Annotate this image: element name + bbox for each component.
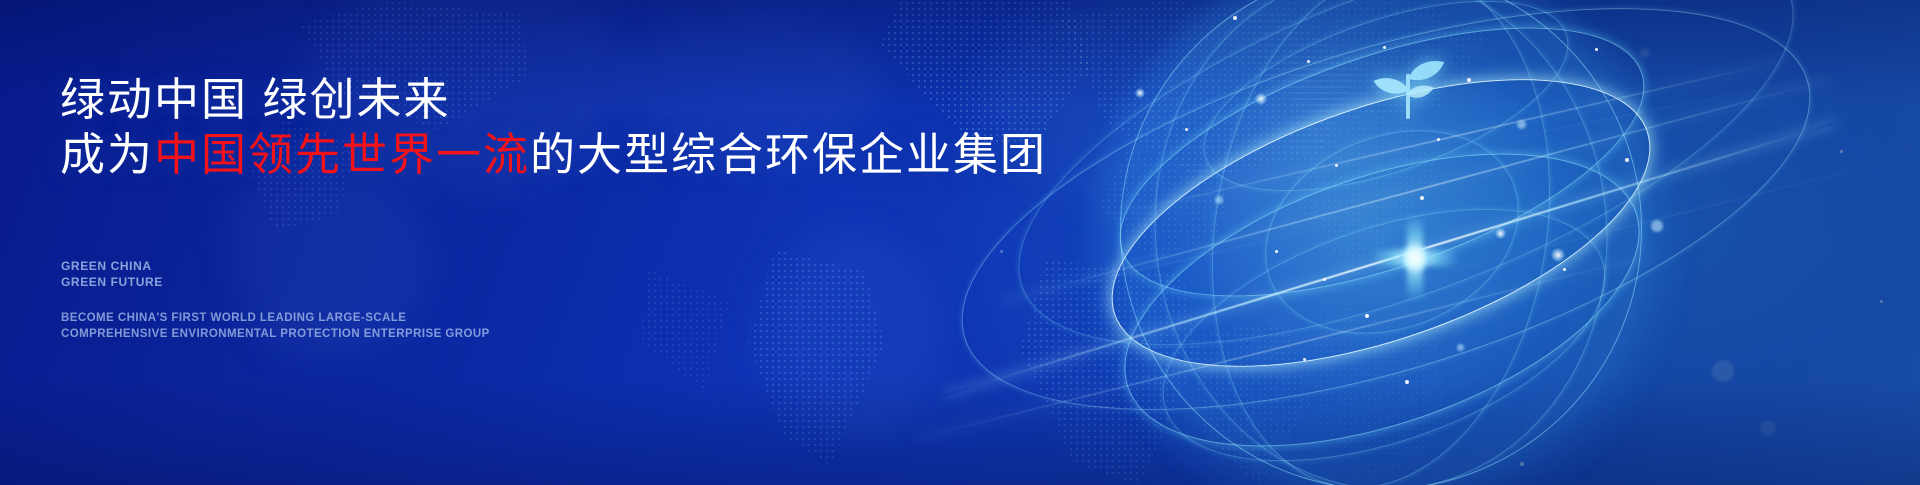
headline-prefix: 成为 [60, 129, 154, 180]
wireframe-globe [1065, 0, 1705, 485]
headline-highlight: 中国领先世界一流 [154, 129, 530, 180]
slogan-en-line-2: GREEN FUTURE [61, 274, 163, 290]
subtitle-en-block: BECOME CHINA'S FIRST WORLD LEADING LARGE… [61, 311, 490, 343]
headline-line-2: 成为中国领先世界一流的大型综合环保企业集团 [60, 129, 1047, 180]
headline-line-1: 绿动中国 绿创未来 [60, 74, 1047, 125]
headline-block: 绿动中国 绿创未来 成为中国领先世界一流的大型综合环保企业集团 [60, 74, 1047, 181]
hero-banner: 绿动中国 绿创未来 成为中国领先世界一流的大型综合环保企业集团 GREEN CH… [0, 0, 1920, 485]
headline-suffix: 的大型综合环保企业集团 [530, 129, 1047, 180]
subtitle-en-line-2: COMPREHENSIVE ENVIRONMENTAL PROTECTION E… [61, 327, 490, 343]
subtitle-en-line-1: BECOME CHINA'S FIRST WORLD LEADING LARGE… [61, 311, 490, 327]
sprout-leaf-icon [1365, 38, 1451, 124]
slogan-en-line-1: GREEN CHINA [61, 258, 163, 274]
slogan-en-block: GREEN CHINA GREEN FUTURE [61, 258, 163, 290]
